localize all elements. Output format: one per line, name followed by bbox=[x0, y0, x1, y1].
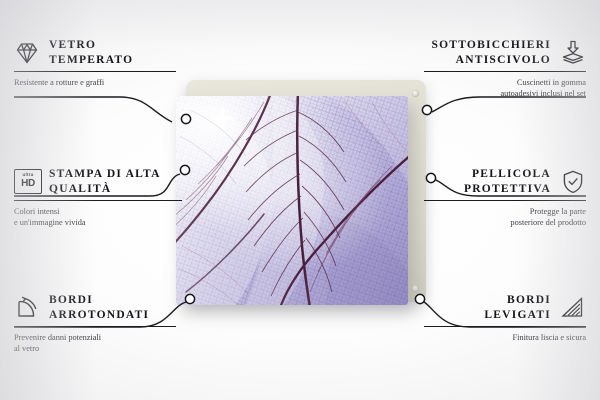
feature-title: BORDI ARROTONDATI bbox=[49, 293, 149, 322]
feature-subtitle: Colori intensi e un'immagine vivida bbox=[14, 206, 182, 228]
feature-vetro-temperato: VETRO TEMPERATO Resistente a rotture e g… bbox=[14, 38, 176, 88]
feature-subtitle: Prevenire danni potenziali al vetro bbox=[14, 332, 176, 354]
feature-title: BORDI LEVIGATI bbox=[484, 293, 551, 322]
infographic-canvas: VETRO TEMPERATO Resistente a rotture e g… bbox=[0, 0, 600, 400]
diamond-icon bbox=[14, 40, 40, 66]
feature-title: VETRO TEMPERATO bbox=[49, 38, 133, 67]
divider bbox=[14, 71, 176, 72]
feature-title: STAMPA DI ALTA QUALITÀ bbox=[49, 167, 161, 196]
divider bbox=[424, 71, 586, 72]
feature-title: SOTTOBICCHIERI ANTISCIVOLO bbox=[431, 38, 551, 67]
feature-pellicola-protettiva: PELLICOLA PROTETTIVA Protegge la parte p… bbox=[424, 167, 586, 228]
divider bbox=[14, 200, 182, 201]
badge-hd-label: HD bbox=[21, 179, 35, 189]
feature-title: PELLICOLA PROTETTIVA bbox=[464, 167, 551, 196]
feature-stampa-alta-qualita: ultra HD STAMPA DI ALTA QUALITÀ Colori i… bbox=[14, 167, 182, 228]
feature-subtitle: Cuscinetti in gomma autoadesivi inclusi … bbox=[424, 77, 586, 99]
feature-sottobicchieri-antiscivolo: SOTTOBICCHIERI ANTISCIVOLO Cuscinetti in… bbox=[424, 38, 586, 99]
feature-subtitle: Resistente a rotture e graffi bbox=[14, 77, 176, 88]
stacked-pads-arrow-icon bbox=[560, 40, 586, 66]
leaf-artwork bbox=[176, 96, 408, 305]
feature-subtitle: Finitura liscia e sicura bbox=[424, 332, 586, 343]
feature-subtitle: Protegge la parte posteriore del prodott… bbox=[424, 206, 586, 228]
glass-panel bbox=[176, 96, 408, 305]
product-image bbox=[176, 80, 426, 305]
corner-pad-top-right bbox=[412, 90, 419, 97]
corner-pad-bottom-right bbox=[412, 285, 419, 292]
divider bbox=[424, 200, 586, 201]
divider bbox=[14, 326, 176, 327]
ultra-hd-badge-icon: ultra HD bbox=[14, 169, 40, 195]
shield-check-icon bbox=[560, 169, 586, 195]
connector-sottobicchieri bbox=[432, 97, 586, 112]
divider bbox=[424, 326, 586, 327]
connector-vetro-temperato bbox=[14, 97, 172, 122]
feature-bordi-levigati: BORDI LEVIGATI Finitura liscia e sicura bbox=[424, 293, 586, 343]
feature-bordi-arrotondati: BORDI ARROTONDATI Prevenire danni potenz… bbox=[14, 293, 176, 354]
polished-edge-hatch-icon bbox=[560, 295, 586, 321]
rounded-corner-icon bbox=[14, 295, 40, 321]
